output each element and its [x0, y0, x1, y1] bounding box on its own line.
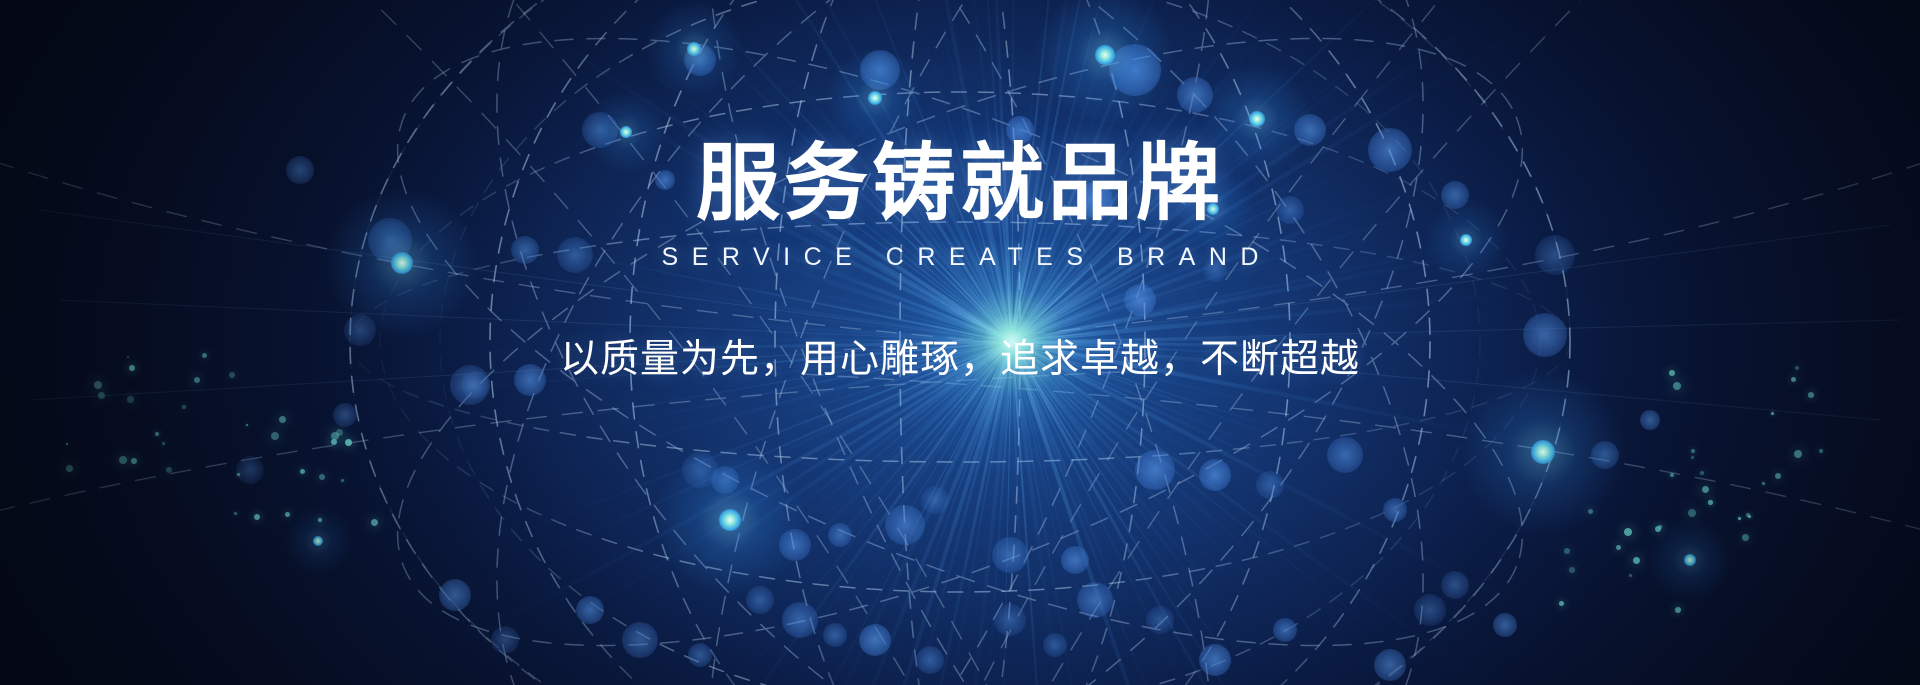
cyan-particle	[1775, 473, 1781, 479]
cyan-particle	[1700, 471, 1704, 475]
cyan-particle	[1762, 482, 1765, 485]
cyan-particle	[1819, 449, 1823, 453]
cyan-particle	[1738, 517, 1741, 520]
cyan-particle	[1691, 456, 1694, 459]
cyan-particle	[98, 392, 105, 399]
cyan-particle	[1629, 574, 1632, 577]
cyan-particle	[271, 432, 279, 440]
cyan-particle	[1655, 526, 1661, 532]
cyan-particle	[1795, 366, 1799, 370]
cyan-particle	[285, 512, 290, 517]
cyan-particle	[371, 519, 378, 526]
cyan-particle	[229, 372, 235, 378]
cyan-particle	[254, 514, 260, 520]
particle-layer	[0, 0, 1920, 685]
cyan-particle	[131, 458, 137, 464]
cyan-particle	[1708, 500, 1713, 505]
cyan-particle	[1588, 509, 1593, 514]
cyan-particle	[341, 479, 344, 482]
cyan-particle	[119, 456, 127, 464]
cyan-particle	[331, 432, 339, 440]
cyan-particle	[331, 439, 337, 445]
cyan-particle	[300, 469, 305, 474]
cyan-particle	[66, 465, 73, 472]
cyan-particle	[1746, 513, 1750, 517]
cyan-particle	[127, 356, 129, 358]
cyan-particle	[94, 381, 102, 389]
cyan-particle	[1791, 377, 1796, 382]
cyan-particle	[234, 512, 237, 515]
cyan-particle	[1742, 534, 1749, 541]
cyan-particle	[1633, 557, 1640, 564]
cyan-particle	[1691, 449, 1695, 453]
hero-banner: 服务铸就品牌 SERVICE CREATES BRAND 以质量为先，用心雕琢，…	[0, 0, 1920, 685]
cyan-particle	[1673, 382, 1681, 390]
cyan-particle	[1616, 545, 1621, 550]
cyan-particle	[1559, 601, 1564, 606]
cyan-particle	[279, 416, 286, 423]
cyan-particle	[127, 396, 134, 403]
cyan-particle	[155, 432, 159, 436]
cyan-particle	[66, 443, 68, 445]
cyan-particle	[246, 424, 248, 426]
cyan-particle	[1569, 567, 1575, 573]
cyan-particle	[1688, 509, 1696, 517]
cyan-particle	[162, 442, 165, 445]
cyan-particle	[1748, 515, 1751, 518]
cyan-particle	[1794, 450, 1802, 458]
cyan-particle	[1658, 525, 1662, 529]
cyan-particle	[319, 474, 325, 480]
cyan-particle	[1675, 607, 1681, 613]
cyan-particle	[129, 365, 135, 371]
cyan-particle	[336, 429, 343, 436]
cyan-particle	[345, 439, 352, 446]
cyan-particle	[182, 405, 186, 409]
cyan-particle	[1670, 473, 1674, 477]
cyan-particle	[1808, 392, 1814, 398]
cyan-particle	[1564, 548, 1570, 554]
cyan-particle	[202, 353, 207, 358]
cyan-particle	[1624, 528, 1632, 536]
cyan-particle	[194, 377, 200, 383]
cyan-particle	[237, 473, 240, 476]
cyan-particle	[1702, 486, 1709, 493]
cyan-particle	[166, 467, 172, 473]
cyan-particle	[1669, 370, 1675, 376]
cyan-particle	[318, 518, 322, 522]
cyan-particle	[1771, 412, 1774, 415]
